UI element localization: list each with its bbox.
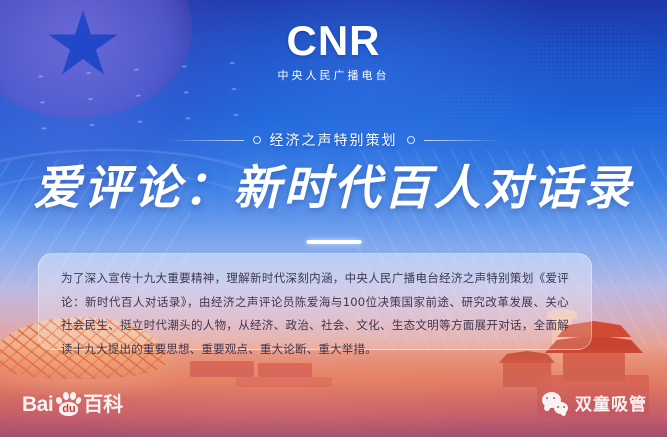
circle-outline-icon <box>253 136 261 144</box>
cnr-logo-subtitle: 中央人民广播电台 <box>0 67 667 83</box>
description-text: 为了深入宣传十九大重要精神，理解新时代深刻内涵，中央人民广播电台经济之声特别策划… <box>61 267 569 361</box>
title-underline-rule <box>306 240 361 244</box>
wechat-account-name: 双童吸管 <box>575 390 647 415</box>
wechat-icon <box>542 392 568 414</box>
cnr-logo: CNR 中央人民广播电台 <box>0 20 667 83</box>
subtitle-rule-right <box>424 140 502 141</box>
paw-pad <box>75 396 82 404</box>
baidu-baike-text: 百科 <box>83 394 123 415</box>
baidu-du-text: du <box>62 404 75 415</box>
wechat-watermark: 双童吸管 <box>542 390 647 415</box>
page-title: 爱评论：新时代百人对话录 <box>0 162 667 216</box>
program-subtitle-label: 经济之声特别策划 <box>270 130 398 150</box>
wechat-bubble-small <box>554 402 568 414</box>
description-panel: 为了深入宣传十九大重要精神，理解新时代深刻内涵，中央人民广播电台经济之声特别策划… <box>38 253 592 350</box>
circle-outline-icon <box>407 136 415 144</box>
paw-pad <box>63 392 70 401</box>
baidu-baike-logo: Bai du 百科 <box>22 391 123 415</box>
baidu-bai-text: Bai <box>22 394 53 415</box>
poster-canvas: CNR 中央人民广播电台 经济之声特别策划 爱评论：新时代百人对话录 为了深入宣… <box>0 0 667 437</box>
subtitle-rule-left <box>166 140 244 141</box>
wechat-dot <box>557 406 559 408</box>
cnr-wordmark: CNR <box>0 20 667 62</box>
baidu-paw-icon: du <box>55 391 81 416</box>
program-subtitle-bar: 经济之声特别策划 <box>0 130 667 150</box>
wechat-dot <box>563 406 565 408</box>
